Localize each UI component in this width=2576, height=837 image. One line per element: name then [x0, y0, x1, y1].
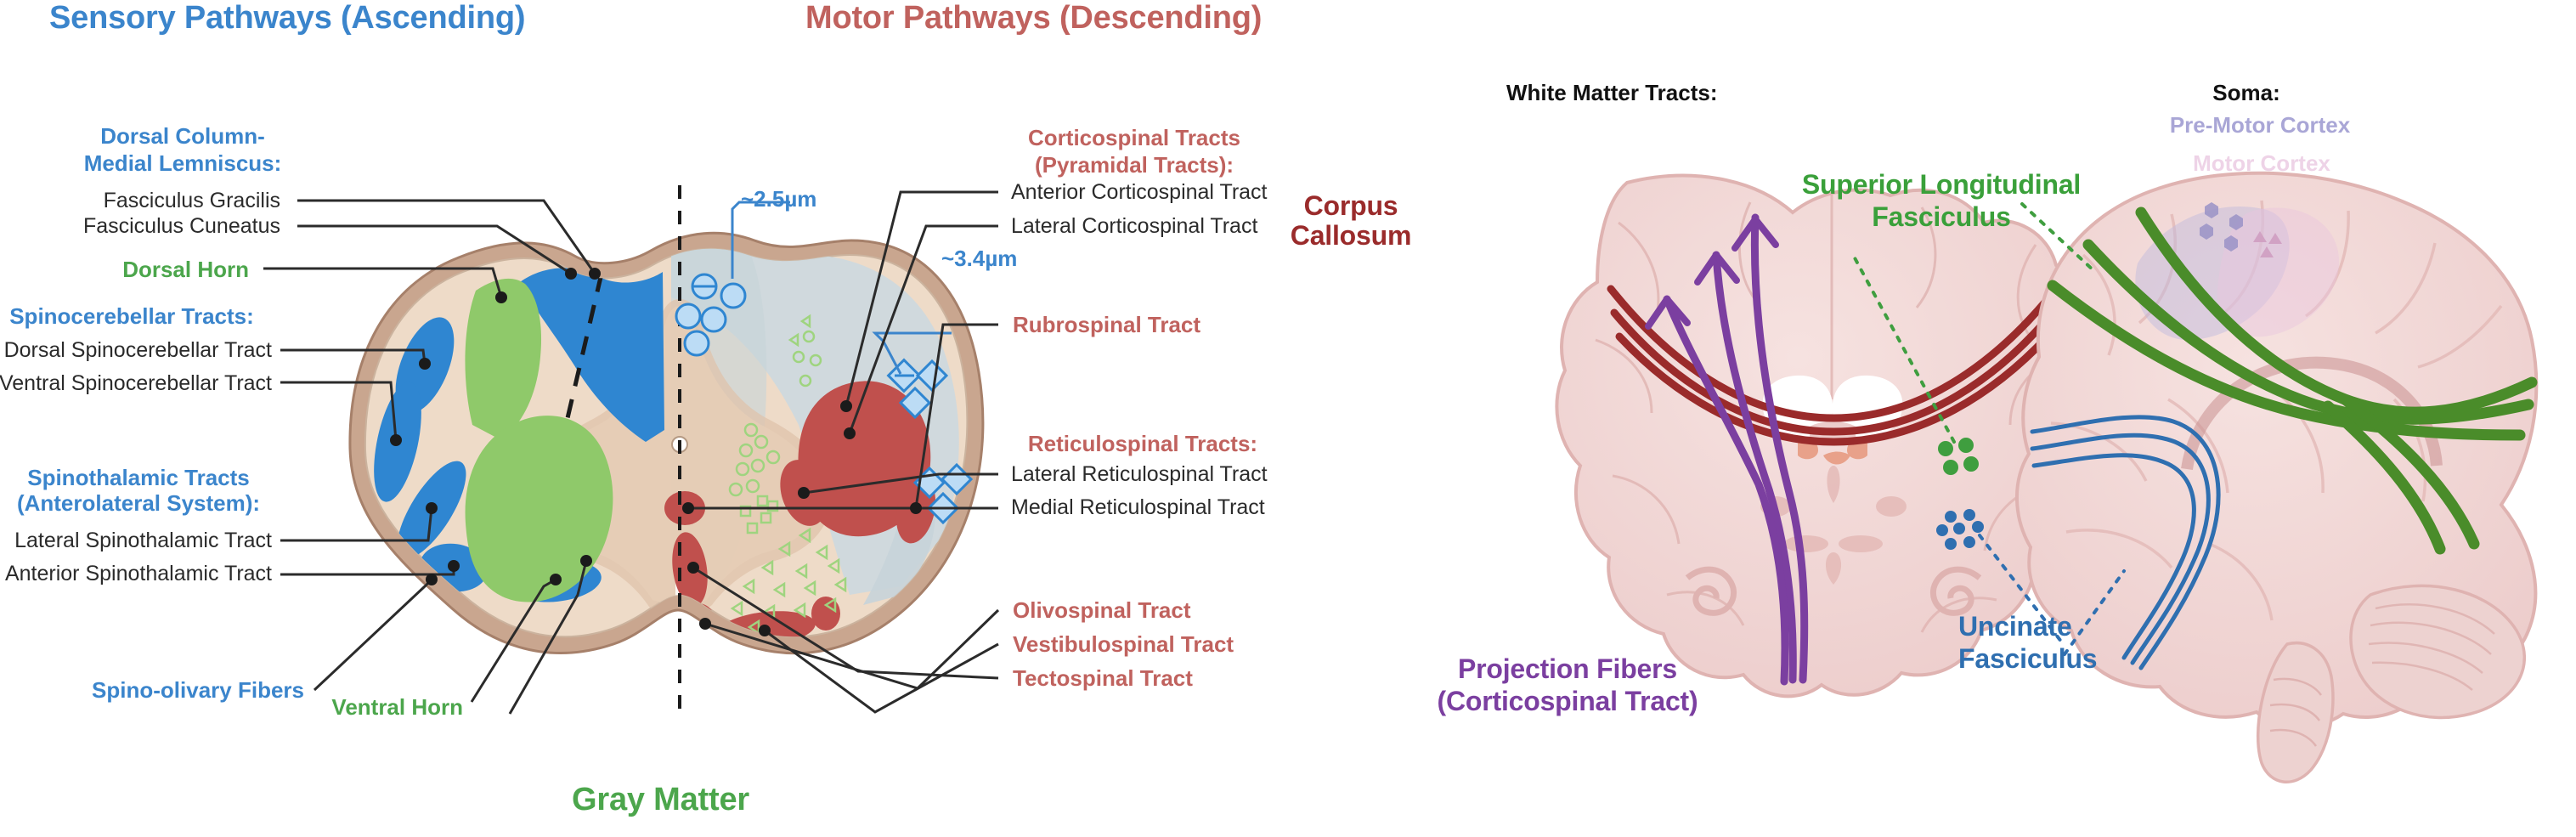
brain-illustration [0, 0, 2576, 837]
label-projection-fibers-line2: (Corticospinal Tract) [1438, 687, 1698, 717]
diagram-canvas: Sensory Pathways (Ascending) Motor Pathw… [0, 0, 2576, 837]
label-uncinate-line1: Uncinate [1958, 612, 2072, 642]
label-slf-line2: Fasciculus [1872, 202, 2010, 233]
label-slf-line1: Superior Longitudinal [1802, 170, 2081, 201]
label-corpus-callosum-line1: Corpus [1304, 191, 1398, 222]
label-projection-fibers-line1: Projection Fibers [1458, 654, 1677, 685]
label-corpus-callosum-line2: Callosum [1291, 221, 1411, 252]
label-uncinate-line2: Fasciculus [1958, 644, 2097, 675]
sagittal-brain [2017, 173, 2536, 783]
